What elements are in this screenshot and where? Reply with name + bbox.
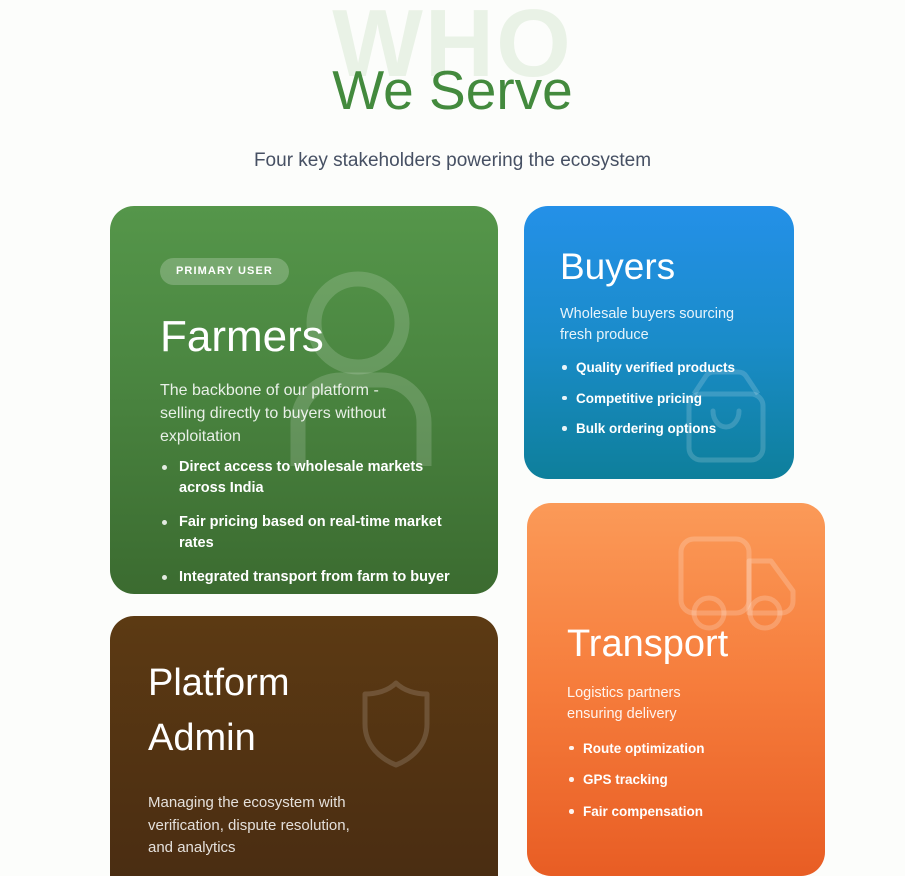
- card-description-platform-admin: Managing the ecosystem with verification…: [148, 792, 368, 860]
- list-item: GPS tracking: [567, 771, 825, 789]
- card-bullet-list-buyers: Quality verified products Competitive pr…: [560, 359, 794, 438]
- card-bullet-list-farmers: Direct access to wholesale markets acros…: [160, 457, 464, 588]
- stakeholder-card-platform-admin[interactable]: Platform Admin Managing the ecosystem wi…: [110, 616, 498, 876]
- card-description-farmers: The backbone of our platform - selling d…: [160, 380, 425, 448]
- page-header: WHO We Serve Four key stakeholders power…: [0, 0, 905, 190]
- primary-user-badge: PRIMARY USER: [160, 258, 289, 285]
- list-item: Direct access to wholesale markets acros…: [160, 457, 450, 499]
- list-item: Fair pricing based on real-time market r…: [160, 512, 450, 554]
- stakeholder-card-grid: PRIMARY USER Farmers The backbone of our…: [0, 206, 905, 876]
- card-title-farmers: Farmers: [160, 314, 464, 360]
- page-subtitle: Four key stakeholders powering the ecosy…: [0, 150, 905, 172]
- list-item: Integrated transport from farm to buyer: [160, 567, 450, 588]
- card-title-transport: Transport: [567, 625, 825, 663]
- card-title-platform-admin: Platform Admin: [148, 656, 348, 766]
- stakeholder-card-transport[interactable]: Transport Logistics partners ensuring de…: [527, 503, 825, 876]
- page-title: We Serve: [0, 60, 905, 121]
- card-description-transport: Logistics partners ensuring delivery: [567, 683, 737, 726]
- list-item: Bulk ordering options: [560, 420, 794, 438]
- stakeholder-card-buyers[interactable]: Buyers Wholesale buyers sourcing fresh p…: [524, 206, 794, 479]
- stakeholder-card-farmers[interactable]: PRIMARY USER Farmers The backbone of our…: [110, 206, 498, 594]
- list-item: Route optimization: [567, 740, 825, 758]
- list-item: Fair compensation: [567, 803, 825, 821]
- card-title-buyers: Buyers: [560, 248, 794, 285]
- card-bullet-list-transport: Route optimization GPS tracking Fair com…: [567, 740, 825, 821]
- card-description-buyers: Wholesale buyers sourcing fresh produce: [560, 304, 740, 346]
- list-item: Quality verified products: [560, 359, 794, 377]
- list-item: Competitive pricing: [560, 390, 794, 408]
